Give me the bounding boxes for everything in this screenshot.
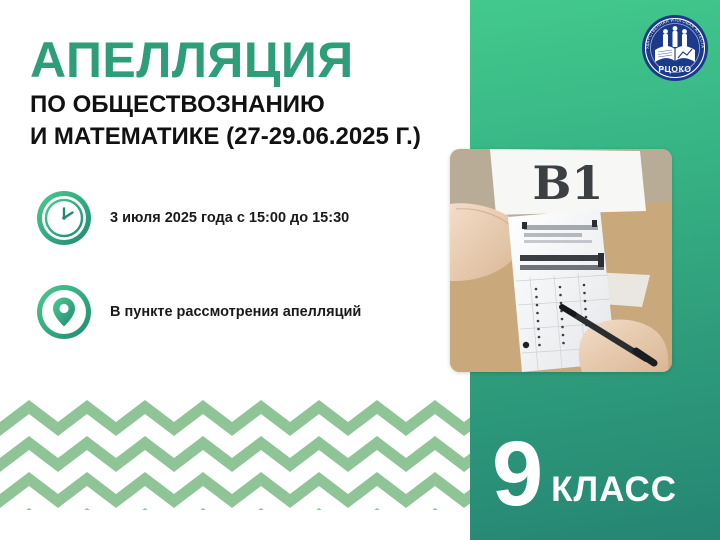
clock-icon <box>36 190 92 246</box>
page-title: АПЕЛЛЯЦИЯ <box>30 34 470 86</box>
grade-number: 9 <box>492 428 541 520</box>
appeal-announcement-poster: АПЕЛЛЯЦИЯ ПО ОБЩЕСТВОЗНАНИЮ И МАТЕМАТИКЕ… <box>0 0 720 540</box>
grade-badge: 9 КЛАСС <box>492 410 712 520</box>
logo-acronym: РЦОКО <box>658 64 691 74</box>
poster-heading-block: АПЕЛЛЯЦИЯ ПО ОБЩЕСТВОЗНАНИЮ И МАТЕМАТИКЕ… <box>30 34 470 150</box>
page-subtitle-line-1: ПО ОБЩЕСТВОЗНАНИЮ <box>30 92 470 118</box>
exam-answer-sheet-photo: B1 <box>450 149 672 372</box>
chevron-pattern-svg <box>0 400 470 510</box>
page-subtitle-line-2: И МАТЕМАТИКЕ (27-29.06.2025 Г.) <box>30 124 470 150</box>
info-row-time: 3 июля 2025 года с 15:00 до 15:30 <box>36 190 349 246</box>
appeal-place-text: В пункте рассмотрения апелляций <box>110 304 361 320</box>
location-pin-icon <box>36 284 92 340</box>
rcoko-logo: ГОСУДАРСТВЕННАЯ ИТОГОВАЯ АТТЕСТАЦИЯ <box>641 14 709 82</box>
chevron-pattern-band <box>0 400 470 510</box>
appeal-time-text: 3 июля 2025 года с 15:00 до 15:30 <box>110 210 349 226</box>
info-row-place: В пункте рассмотрения апелляций <box>36 284 361 340</box>
grade-label: КЛАСС <box>551 466 677 514</box>
svg-text:B1: B1 <box>533 156 604 210</box>
